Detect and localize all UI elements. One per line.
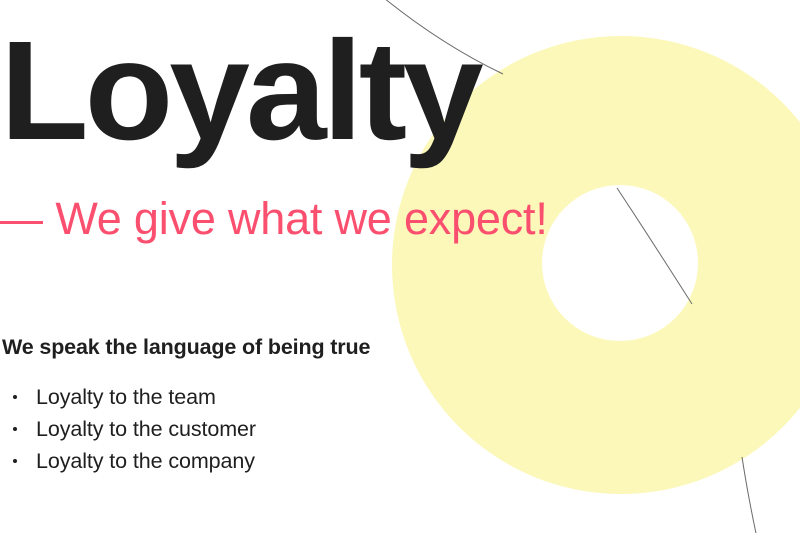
bullet-dot-icon (13, 459, 17, 463)
list-item-label: Loyalty to the customer (36, 417, 256, 441)
list-item: Loyalty to the customer (0, 413, 256, 445)
slide-canvas: Loyalty — We give what we expect! We spe… (0, 0, 800, 533)
em-dash: — (0, 193, 43, 244)
slide-title: Loyalty (0, 20, 480, 161)
list-item: Loyalty to the company (0, 445, 256, 477)
list-item: Loyalty to the team (0, 381, 256, 413)
bullet-dot-icon (13, 427, 17, 431)
lead-statement: We speak the language of being true (2, 337, 370, 359)
slide-subtitle: — We give what we expect! (0, 196, 548, 241)
bullet-list: Loyalty to the team Loyalty to the custo… (0, 381, 256, 477)
bullet-dot-icon (13, 395, 17, 399)
list-item-label: Loyalty to the team (36, 385, 216, 409)
list-item-label: Loyalty to the company (36, 449, 255, 473)
slide-subtitle-text: We give what we expect! (55, 193, 547, 244)
slide-content: Loyalty — We give what we expect! We spe… (0, 0, 800, 533)
